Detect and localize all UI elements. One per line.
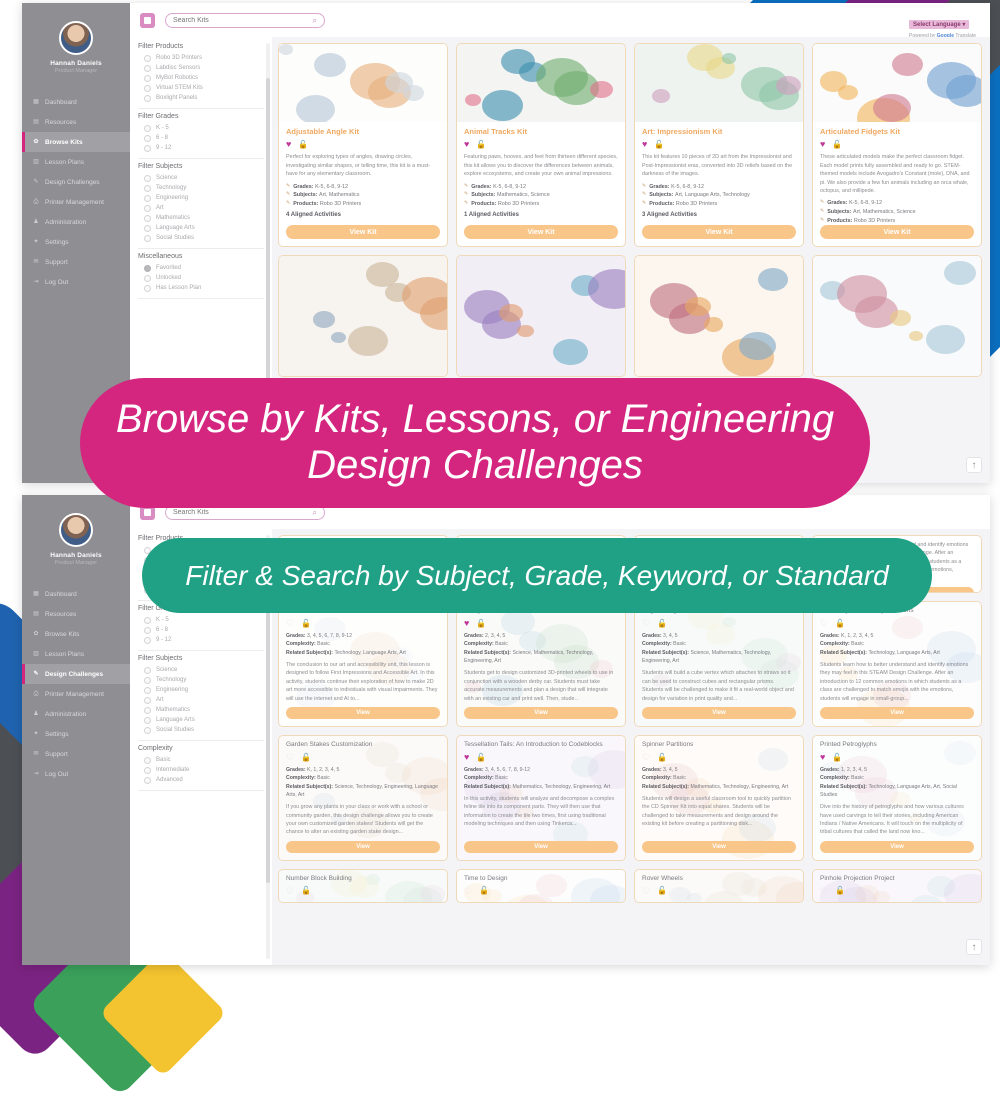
printer-icon: ⎙ bbox=[32, 198, 40, 206]
sidebar-item-resources[interactable]: ▤Resources bbox=[22, 112, 130, 132]
card-icon-row: ♡🔓 bbox=[464, 887, 618, 896]
challenge-meta-value: 1, 2, 3, 4, 5 bbox=[841, 767, 867, 773]
kit-card-partial[interactable] bbox=[456, 255, 626, 377]
kit-card-image bbox=[457, 256, 625, 376]
view-button[interactable]: View bbox=[820, 707, 974, 719]
challenge-card-meta: Grades: 3, 4, 5, 6, 7, 8, 9-12Complexity… bbox=[464, 766, 618, 791]
kit-card-description: This kit features 10 pieces of 2D art fr… bbox=[642, 153, 796, 178]
unlock-icon[interactable]: 🔓 bbox=[835, 887, 845, 895]
challenge-card-body: Spinner Partitions♡🔓Grades: 3, 4, 5Compl… bbox=[635, 736, 803, 860]
challenge-card-row-partial: Number Block Building♡🔓Time to Design♡🔓R… bbox=[278, 869, 982, 903]
filter-option-label: Robo 3D Printers bbox=[156, 55, 202, 61]
view-button[interactable]: View bbox=[464, 841, 618, 853]
unlock-icon[interactable]: 🔓 bbox=[301, 887, 311, 895]
challenge-card-body: Engineering 3D Vertices: Cubes♡🔓Grades: … bbox=[635, 602, 803, 726]
card-icon-row: ♥🔓 bbox=[464, 140, 618, 149]
kit-card-body: Animal Tracks Kit♥🔓Featuring paws, hoove… bbox=[457, 122, 625, 246]
pencil-icon: ✎ bbox=[464, 183, 468, 189]
filter-radio-icon[interactable] bbox=[144, 75, 151, 82]
design-challenge-card[interactable]: Engineering 3D Vertices: Cubes♡🔓Grades: … bbox=[634, 601, 804, 727]
card-image bbox=[279, 44, 447, 122]
filter-option[interactable]: Advanced bbox=[138, 775, 264, 785]
challenge-meta-value: K, 1, 2, 3, 4, 5 bbox=[841, 633, 873, 639]
card-image bbox=[813, 256, 981, 376]
filter-radio-icon[interactable] bbox=[144, 185, 151, 192]
kit-card-image bbox=[279, 44, 447, 122]
kit-card-image bbox=[813, 44, 981, 122]
filter-radio-icon[interactable] bbox=[144, 677, 151, 684]
filter-option[interactable]: Engineering bbox=[138, 685, 264, 695]
people-icon: ♟ bbox=[32, 710, 40, 718]
design-challenge-card[interactable]: Derby Wheels♥🔓Grades: 2, 3, 4, 5Complexi… bbox=[456, 601, 626, 727]
filter-option[interactable]: Boxlight Panels bbox=[138, 93, 264, 103]
unlock-icon[interactable]: 🔓 bbox=[476, 620, 486, 628]
kit-card-partial[interactable] bbox=[278, 255, 448, 377]
language-selector-block: Select Language ▾ Powered by Google Tran… bbox=[909, 13, 976, 39]
aligned-activities-count: 1 Aligned Activities bbox=[464, 212, 618, 218]
kit-card-description: Featuring paws, hooves, and feet from th… bbox=[464, 153, 618, 178]
filter-option[interactable]: Art bbox=[138, 203, 264, 213]
sidebar-item-log-out[interactable]: ⇥Log Out bbox=[22, 272, 130, 292]
filter-radio-icon[interactable] bbox=[144, 55, 151, 62]
filter-radio-icon[interactable] bbox=[144, 215, 151, 222]
kits-icon: ✿ bbox=[32, 138, 40, 146]
challenge-card-title: Tessellation Tails: An Introduction to C… bbox=[464, 741, 618, 749]
sidebar-item-dashboard[interactable]: ▦Dashboard bbox=[22, 584, 130, 604]
favorite-heart-icon[interactable]: ♥ bbox=[464, 140, 469, 149]
filter-option-label: Social Studies bbox=[156, 727, 194, 733]
card-image bbox=[635, 256, 803, 376]
filter-option[interactable]: Favorited bbox=[138, 263, 264, 273]
challenge-meta-key: Related Subject(s): bbox=[464, 784, 512, 790]
filter-option[interactable]: Social Studies bbox=[138, 725, 264, 735]
filter-option[interactable]: K - 5 bbox=[138, 123, 264, 133]
view-button[interactable]: View bbox=[286, 707, 440, 719]
pencil-icon: ✎ bbox=[286, 191, 290, 197]
card-meta-key: Grades: bbox=[293, 184, 315, 190]
filter-option[interactable]: Technology bbox=[138, 675, 264, 685]
filter-option-label: 9 - 12 bbox=[156, 637, 171, 643]
card-icon-row: ♥🔓 bbox=[642, 140, 796, 149]
sidebar-item-label: Browse Kits bbox=[45, 139, 83, 146]
sidebar-item-lesson-plans[interactable]: ▥Lesson Plans bbox=[22, 644, 130, 664]
challenge-card-title: Time to Design bbox=[464, 875, 618, 883]
challenge-meta-key: Complexity: bbox=[820, 775, 851, 781]
unlock-icon[interactable]: 🔓 bbox=[832, 754, 842, 762]
filter-option-label: Mathematics bbox=[156, 215, 190, 221]
sidebar-item-label: Administration bbox=[45, 711, 86, 718]
filter-option-label: Art bbox=[156, 205, 164, 211]
filter-option[interactable]: Mathematics bbox=[138, 213, 264, 223]
favorite-heart-icon[interactable]: ♡ bbox=[820, 887, 828, 896]
filter-group: Filter GradesK - 56 - 89 - 12 bbox=[138, 109, 264, 159]
challenge-card-body: Derby Wheels♥🔓Grades: 2, 3, 4, 5Complexi… bbox=[457, 602, 625, 726]
filter-option[interactable]: 6 - 8 bbox=[138, 625, 264, 635]
card-meta-key: Subjects: bbox=[827, 209, 853, 215]
filter-radio-icon[interactable] bbox=[144, 145, 151, 152]
design-challenge-card[interactable]: Time to Design♡🔓 bbox=[456, 869, 626, 903]
challenge-card-body: Rover Wheels♡🔓 bbox=[635, 870, 803, 903]
filter-radio-icon[interactable] bbox=[144, 777, 151, 784]
filter-radio-icon[interactable] bbox=[144, 637, 151, 644]
filter-option[interactable]: MyBot Robotics bbox=[138, 73, 264, 83]
challenge-meta-value: Basic bbox=[851, 775, 864, 781]
favorite-heart-icon[interactable]: ♡ bbox=[642, 887, 650, 896]
challenge-meta-value: 3, 4, 5 bbox=[663, 767, 677, 773]
sidebar-item-administration[interactable]: ♟Administration bbox=[22, 212, 130, 232]
filter-option[interactable]: Labdisc Sensors bbox=[138, 63, 264, 73]
favorite-heart-icon[interactable]: ♥ bbox=[642, 140, 647, 149]
card-meta-value: K-5, 6-8, 9-12 bbox=[315, 184, 348, 190]
filter-radio-icon[interactable] bbox=[144, 285, 151, 292]
filter-radio-icon[interactable] bbox=[144, 767, 151, 774]
challenge-card-body: Pinhole Projection Project♡🔓 bbox=[813, 870, 981, 903]
challenge-meta-key: Grades: bbox=[286, 767, 307, 773]
pencil-icon: ✎ bbox=[286, 200, 290, 206]
kit-card-image bbox=[635, 44, 803, 122]
grid-icon: ▦ bbox=[32, 590, 40, 598]
card-icon-row: ♡🔓 bbox=[642, 753, 796, 762]
printer-icon: ⎙ bbox=[32, 690, 40, 698]
kit-card-description: Perfect for exploring types of angles, d… bbox=[286, 153, 440, 178]
sidebar-item-dashboard[interactable]: ▦Dashboard bbox=[22, 92, 130, 112]
card-meta-value: Art, Mathematics bbox=[319, 192, 359, 198]
filter-group: Filter SubjectsScienceTechnologyEngineer… bbox=[138, 651, 264, 741]
filter-group-title: Complexity bbox=[138, 745, 264, 752]
pencil-icon: ✎ bbox=[32, 670, 40, 678]
card-meta-key: Grades: bbox=[827, 200, 849, 206]
sidebar-item-label: Support bbox=[45, 751, 68, 758]
unlock-icon[interactable]: 🔓 bbox=[654, 141, 664, 149]
favorite-heart-icon[interactable]: ♡ bbox=[820, 619, 828, 628]
sidebar-item-settings[interactable]: ✦Settings bbox=[22, 232, 130, 252]
card-icon-row: ♡🔓 bbox=[286, 887, 440, 896]
card-meta-row: ✎Subjects: Art, Language Arts, Technolog… bbox=[642, 191, 796, 200]
select-language-label: Select Language bbox=[913, 22, 961, 28]
filter-radio-icon[interactable] bbox=[144, 617, 151, 624]
filter-radio-icon[interactable] bbox=[144, 265, 151, 272]
filter-option[interactable]: Robo 3D Printers bbox=[138, 53, 264, 63]
challenge-card-body: Number Block Building♡🔓 bbox=[279, 870, 447, 903]
unlock-icon[interactable]: 🔓 bbox=[298, 141, 308, 149]
sidebar-item-settings[interactable]: ✦Settings bbox=[22, 724, 130, 744]
user-role: Product Manager bbox=[22, 560, 130, 566]
challenge-meta-key: Complexity: bbox=[464, 641, 495, 647]
kit-card-image bbox=[457, 44, 625, 122]
card-meta-value: Robo 3D Printers bbox=[498, 201, 539, 207]
design-challenge-card[interactable]: Rover Wheels♡🔓 bbox=[634, 869, 804, 903]
challenge-meta-value: 3, 4, 5, 6, 7, 8, 9-12 bbox=[485, 767, 530, 773]
filter-option-label: Language Arts bbox=[156, 225, 195, 231]
pencil-icon: ✎ bbox=[820, 199, 824, 205]
sidebar-item-support[interactable]: ✉Support bbox=[22, 744, 130, 764]
filter-option-label: Labdisc Sensors bbox=[156, 65, 200, 71]
card-icon-row: ♥🔓 bbox=[464, 619, 618, 628]
challenge-meta-key: Grades: bbox=[642, 767, 663, 773]
kit-card-description: These articulated models make the perfec… bbox=[820, 153, 974, 195]
mail-icon: ✉ bbox=[32, 258, 40, 266]
filter-option-label: 9 - 12 bbox=[156, 145, 171, 151]
unlock-icon[interactable]: 🔓 bbox=[657, 620, 667, 628]
challenge-meta-value: Technology, Language Arts, Art bbox=[868, 650, 939, 656]
search-icon[interactable]: ⌕ bbox=[313, 16, 317, 26]
view-kit-button[interactable]: View Kit bbox=[286, 225, 440, 239]
view-kit-button[interactable]: View Kit bbox=[642, 225, 796, 239]
view-button[interactable]: View bbox=[820, 841, 974, 853]
favorite-heart-icon[interactable]: ♡ bbox=[464, 887, 472, 896]
filter-radio-icon[interactable] bbox=[144, 125, 151, 132]
search-icon[interactable]: ⌕ bbox=[313, 508, 317, 518]
kit-card-body: Articulated Fidgets Kit♥🔓These articulat… bbox=[813, 122, 981, 246]
favorite-heart-icon[interactable]: ♥ bbox=[820, 753, 825, 762]
favorite-heart-icon[interactable]: ♡ bbox=[642, 619, 650, 628]
kit-card[interactable]: Art: Impressionism Kit♥🔓This kit feature… bbox=[634, 43, 804, 247]
filter-option[interactable]: K - 5 bbox=[138, 615, 264, 625]
kit-card[interactable]: Adjustable Angle Kit♥🔓Perfect for explor… bbox=[278, 43, 448, 247]
aligned-activities-count: 3 Aligned Activities bbox=[642, 212, 796, 218]
card-meta-row: ✎Products: Robo 3D Printers bbox=[286, 200, 440, 209]
design-challenge-card[interactable]: What a Relief!♡🔓Grades: 3, 4, 5, 6, 7, 8… bbox=[278, 601, 448, 727]
favorite-heart-icon[interactable]: ♥ bbox=[820, 140, 825, 149]
card-meta-row: ✎Products: Robo 3D Printers bbox=[820, 217, 974, 226]
sidebar-item-label: Resources bbox=[45, 119, 76, 126]
challenge-meta-key: Grades: bbox=[820, 633, 841, 639]
filter-option[interactable]: Social Studies bbox=[138, 233, 264, 243]
filter-option[interactable]: 6 - 8 bbox=[138, 133, 264, 143]
favorite-heart-icon[interactable]: ♥ bbox=[464, 753, 469, 762]
view-button[interactable]: View bbox=[286, 841, 440, 853]
filter-option[interactable]: Basic bbox=[138, 755, 264, 765]
filter-option-label: Boxlight Panels bbox=[156, 95, 197, 101]
card-icon-row: ♡🔓 bbox=[286, 753, 440, 762]
sidebar-item-label: Lesson Plans bbox=[45, 159, 84, 166]
challenge-meta-value: 3, 4, 5, 6, 7, 8, 9-12 bbox=[307, 633, 352, 639]
filter-option-label: K - 5 bbox=[156, 125, 169, 131]
sidebar-item-label: Printer Management bbox=[45, 691, 104, 698]
challenge-meta-value: Basic bbox=[495, 641, 508, 647]
user-name: Hannah Daniels bbox=[22, 60, 130, 67]
sidebar-item-design-challenges[interactable]: ✎Design Challenges bbox=[22, 664, 130, 684]
filter-option-label: Art bbox=[156, 697, 164, 703]
challenge-meta-value: Mathematics, Technology, Engineering, Ar… bbox=[512, 784, 610, 790]
filter-option-label: Mathematics bbox=[156, 707, 190, 713]
avatar bbox=[59, 21, 93, 55]
kit-card[interactable]: Articulated Fidgets Kit♥🔓These articulat… bbox=[812, 43, 982, 247]
challenge-meta-value: Basic bbox=[673, 641, 686, 647]
sidebar-item-design-challenges[interactable]: ✎Design Challenges bbox=[22, 172, 130, 192]
search-input[interactable] bbox=[173, 509, 313, 516]
card-meta-value: K-5, 6-8, 9-12 bbox=[849, 200, 882, 206]
sidebar-item-printer-management[interactable]: ⎙Printer Management bbox=[22, 684, 130, 704]
unlock-icon[interactable]: 🔓 bbox=[835, 620, 845, 628]
sidebar-item-label: Printer Management bbox=[45, 199, 104, 206]
card-image bbox=[813, 44, 981, 122]
card-icon-row: ♡🔓 bbox=[820, 887, 974, 896]
back-to-top-button[interactable]: ↑ bbox=[966, 939, 982, 955]
sidebar-item-label: Dashboard bbox=[45, 99, 77, 106]
design-challenge-card[interactable]: Garden Stakes Customization♡🔓Grades: K, … bbox=[278, 735, 448, 861]
sidebar-item-label: Browse Kits bbox=[45, 631, 79, 638]
card-meta-row: ✎Grades: K-5, 6-8, 9-12 bbox=[464, 183, 618, 192]
filter-option[interactable]: Language Arts bbox=[138, 715, 264, 725]
filter-option[interactable]: Unlocked bbox=[138, 273, 264, 283]
design-challenge-card[interactable]: Printed Petroglyphs♥🔓Grades: 1, 2, 3, 4,… bbox=[812, 735, 982, 861]
filter-option-label: Language Arts bbox=[156, 717, 195, 723]
filter-option-label: MyBot Robotics bbox=[156, 75, 198, 81]
filter-radio-icon[interactable] bbox=[144, 135, 151, 142]
filter-option-label: Engineering bbox=[156, 687, 188, 693]
view-kit-button[interactable]: View Kit bbox=[820, 225, 974, 239]
filter-option-label: K - 5 bbox=[156, 617, 169, 623]
filter-option[interactable]: Language Arts bbox=[138, 223, 264, 233]
view-button[interactable]: View bbox=[642, 841, 796, 853]
filter-radio-icon[interactable] bbox=[144, 707, 151, 714]
filter-option[interactable]: Mathematics bbox=[138, 705, 264, 715]
filter-radio-icon[interactable] bbox=[144, 687, 151, 694]
challenge-card-body: The Many Sides of My Emotions♡🔓Grades: K… bbox=[813, 602, 981, 726]
card-icon-row: ♡🔓 bbox=[820, 619, 974, 628]
select-language-dropdown[interactable]: Select Language ▾ bbox=[909, 20, 969, 29]
filter-option-label: Intermediate bbox=[156, 767, 189, 773]
unlock-icon[interactable]: 🔓 bbox=[657, 887, 667, 895]
design-challenge-card[interactable]: Number Block Building♡🔓 bbox=[278, 869, 448, 903]
filter-radio-icon[interactable] bbox=[144, 95, 151, 102]
filter-radio-icon[interactable] bbox=[144, 757, 151, 764]
unlock-icon[interactable]: 🔓 bbox=[476, 754, 486, 762]
unlock-icon[interactable]: 🔓 bbox=[832, 141, 842, 149]
favorite-heart-icon[interactable]: ♥ bbox=[286, 140, 291, 149]
pencil-icon: ✎ bbox=[642, 200, 646, 206]
challenge-meta-key: Complexity: bbox=[820, 641, 851, 647]
search-box[interactable]: ⌕ bbox=[165, 13, 325, 28]
filter-radio-icon[interactable] bbox=[144, 717, 151, 724]
sidebar-item-support[interactable]: ✉Support bbox=[22, 252, 130, 272]
sidebar-item-label: Settings bbox=[45, 731, 69, 738]
sidebar-item-resources[interactable]: ▤Resources bbox=[22, 604, 130, 624]
card-image bbox=[635, 44, 803, 122]
card-meta-row: ✎Grades: K-5, 6-8, 9-12 bbox=[820, 199, 974, 208]
filter-option[interactable]: 9 - 12 bbox=[138, 635, 264, 645]
card-meta-key: Products: bbox=[649, 201, 676, 207]
filter-option[interactable]: 9 - 12 bbox=[138, 143, 264, 153]
view-button[interactable]: View bbox=[642, 707, 796, 719]
challenge-meta-key: Related Subject(s): bbox=[286, 650, 334, 656]
filter-radio-icon[interactable] bbox=[144, 697, 151, 704]
filter-option[interactable]: Intermediate bbox=[138, 765, 264, 775]
filter-radio-icon[interactable] bbox=[144, 205, 151, 212]
sidebar-item-administration[interactable]: ♟Administration bbox=[22, 704, 130, 724]
favorite-heart-icon[interactable]: ♡ bbox=[642, 753, 650, 762]
favorite-heart-icon[interactable]: ♡ bbox=[286, 619, 294, 628]
filter-option[interactable]: Has Lesson Plan bbox=[138, 283, 264, 293]
unlock-icon[interactable]: 🔓 bbox=[301, 620, 311, 628]
challenge-meta-key: Grades: bbox=[464, 633, 485, 639]
challenge-card-title: Spinner Partitions bbox=[642, 741, 796, 749]
favorite-heart-icon[interactable]: ♥ bbox=[464, 619, 469, 628]
kit-card-partial[interactable] bbox=[634, 255, 804, 377]
card-image bbox=[457, 44, 625, 122]
pencil-icon: ✎ bbox=[820, 208, 824, 214]
challenge-meta-key: Related Subject(s): bbox=[286, 784, 334, 790]
card-image bbox=[279, 256, 447, 376]
challenge-meta-key: Related Subject(s): bbox=[820, 784, 868, 790]
design-challenge-card[interactable]: The Many Sides of My Emotions♡🔓Grades: K… bbox=[812, 601, 982, 727]
kit-card-image bbox=[635, 256, 803, 376]
filter-option[interactable]: Technology bbox=[138, 183, 264, 193]
view-kit-button[interactable]: View Kit bbox=[464, 225, 618, 239]
card-icon-row: ♥🔓 bbox=[464, 753, 618, 762]
challenge-meta-key: Related Subject(s): bbox=[820, 650, 868, 656]
challenge-meta-key: Complexity: bbox=[642, 641, 673, 647]
back-to-top-button[interactable]: ↑ bbox=[966, 457, 982, 473]
challenge-card-row: What a Relief!♡🔓Grades: 3, 4, 5, 6, 7, 8… bbox=[278, 601, 982, 727]
filter-radio-icon[interactable] bbox=[144, 195, 151, 202]
filter-radio-icon[interactable] bbox=[144, 667, 151, 674]
filter-radio-icon[interactable] bbox=[144, 85, 151, 92]
favorite-heart-icon[interactable]: ♡ bbox=[286, 753, 294, 762]
view-button[interactable]: View bbox=[464, 707, 618, 719]
unlock-icon[interactable]: 🔓 bbox=[657, 754, 667, 762]
filter-option[interactable]: Engineering bbox=[138, 193, 264, 203]
card-meta-key: Subjects: bbox=[293, 192, 319, 198]
kit-card[interactable]: Animal Tracks Kit♥🔓Featuring paws, hoove… bbox=[456, 43, 626, 247]
challenge-card-title: Printed Petroglyphs bbox=[820, 741, 974, 749]
design-challenge-card[interactable]: Tessellation Tails: An Introduction to C… bbox=[456, 735, 626, 861]
filter-radio-icon[interactable] bbox=[144, 225, 151, 232]
filter-option[interactable]: Virtual STEM Kits bbox=[138, 83, 264, 93]
design-challenge-card[interactable]: Spinner Partitions♡🔓Grades: 3, 4, 5Compl… bbox=[634, 735, 804, 861]
sidebar-item-lesson-plans[interactable]: ▥Lesson Plans bbox=[22, 152, 130, 172]
filter-option[interactable]: Science bbox=[138, 173, 264, 183]
challenge-card-body: Printed Petroglyphs♥🔓Grades: 1, 2, 3, 4,… bbox=[813, 736, 981, 860]
card-meta-value: Art, Language Arts, Technology bbox=[675, 192, 750, 198]
favorite-heart-icon[interactable]: ♡ bbox=[286, 887, 294, 896]
overlay-headline-pill: Browse by Kits, Lessons, or Engineering … bbox=[80, 378, 870, 508]
filter-option-label: Science bbox=[156, 667, 177, 673]
kit-card-partial[interactable] bbox=[812, 255, 982, 377]
exit-icon: ⇥ bbox=[32, 770, 40, 778]
mail-icon: ✉ bbox=[32, 750, 40, 758]
unlock-icon[interactable]: 🔓 bbox=[479, 887, 489, 895]
sidebar-item-label: Log Out bbox=[45, 771, 68, 778]
filter-option[interactable]: Science bbox=[138, 665, 264, 675]
search-input[interactable] bbox=[173, 17, 313, 24]
sidebar-item-printer-management[interactable]: ⎙Printer Management bbox=[22, 192, 130, 212]
filter-option[interactable]: Art bbox=[138, 695, 264, 705]
unlock-icon[interactable]: 🔓 bbox=[476, 141, 486, 149]
sidebar-item-label: Log Out bbox=[45, 279, 68, 286]
sidebar-item-log-out[interactable]: ⇥Log Out bbox=[22, 764, 130, 784]
filter-radio-icon[interactable] bbox=[144, 175, 151, 182]
card-icon-row: ♥🔓 bbox=[820, 140, 974, 149]
challenge-card-meta: Grades: K, 1, 2, 3, 4, 5Complexity: Basi… bbox=[820, 632, 974, 657]
sidebar-item-browse-kits[interactable]: ✿Browse Kits bbox=[22, 624, 130, 644]
filter-radio-icon[interactable] bbox=[144, 727, 151, 734]
card-meta-row: ✎Products: Robo 3D Printers bbox=[642, 200, 796, 209]
challenge-card-title: Pinhole Projection Project bbox=[820, 875, 974, 883]
design-challenge-card[interactable]: Pinhole Projection Project♡🔓 bbox=[812, 869, 982, 903]
filter-radio-icon[interactable] bbox=[144, 235, 151, 242]
filter-radio-icon[interactable] bbox=[144, 275, 151, 282]
grid-view-toggle-button[interactable] bbox=[140, 13, 155, 28]
unlock-icon[interactable]: 🔓 bbox=[301, 754, 311, 762]
card-meta-key: Subjects: bbox=[649, 192, 675, 198]
filter-radio-icon[interactable] bbox=[144, 627, 151, 634]
challenge-card-body: Tessellation Tails: An Introduction to C… bbox=[457, 736, 625, 860]
sidebar-item-browse-kits[interactable]: ✿Browse Kits bbox=[22, 132, 130, 152]
filter-radio-icon[interactable] bbox=[144, 65, 151, 72]
overlay-subline-pill: Filter & Search by Subject, Grade, Keywo… bbox=[142, 538, 932, 613]
